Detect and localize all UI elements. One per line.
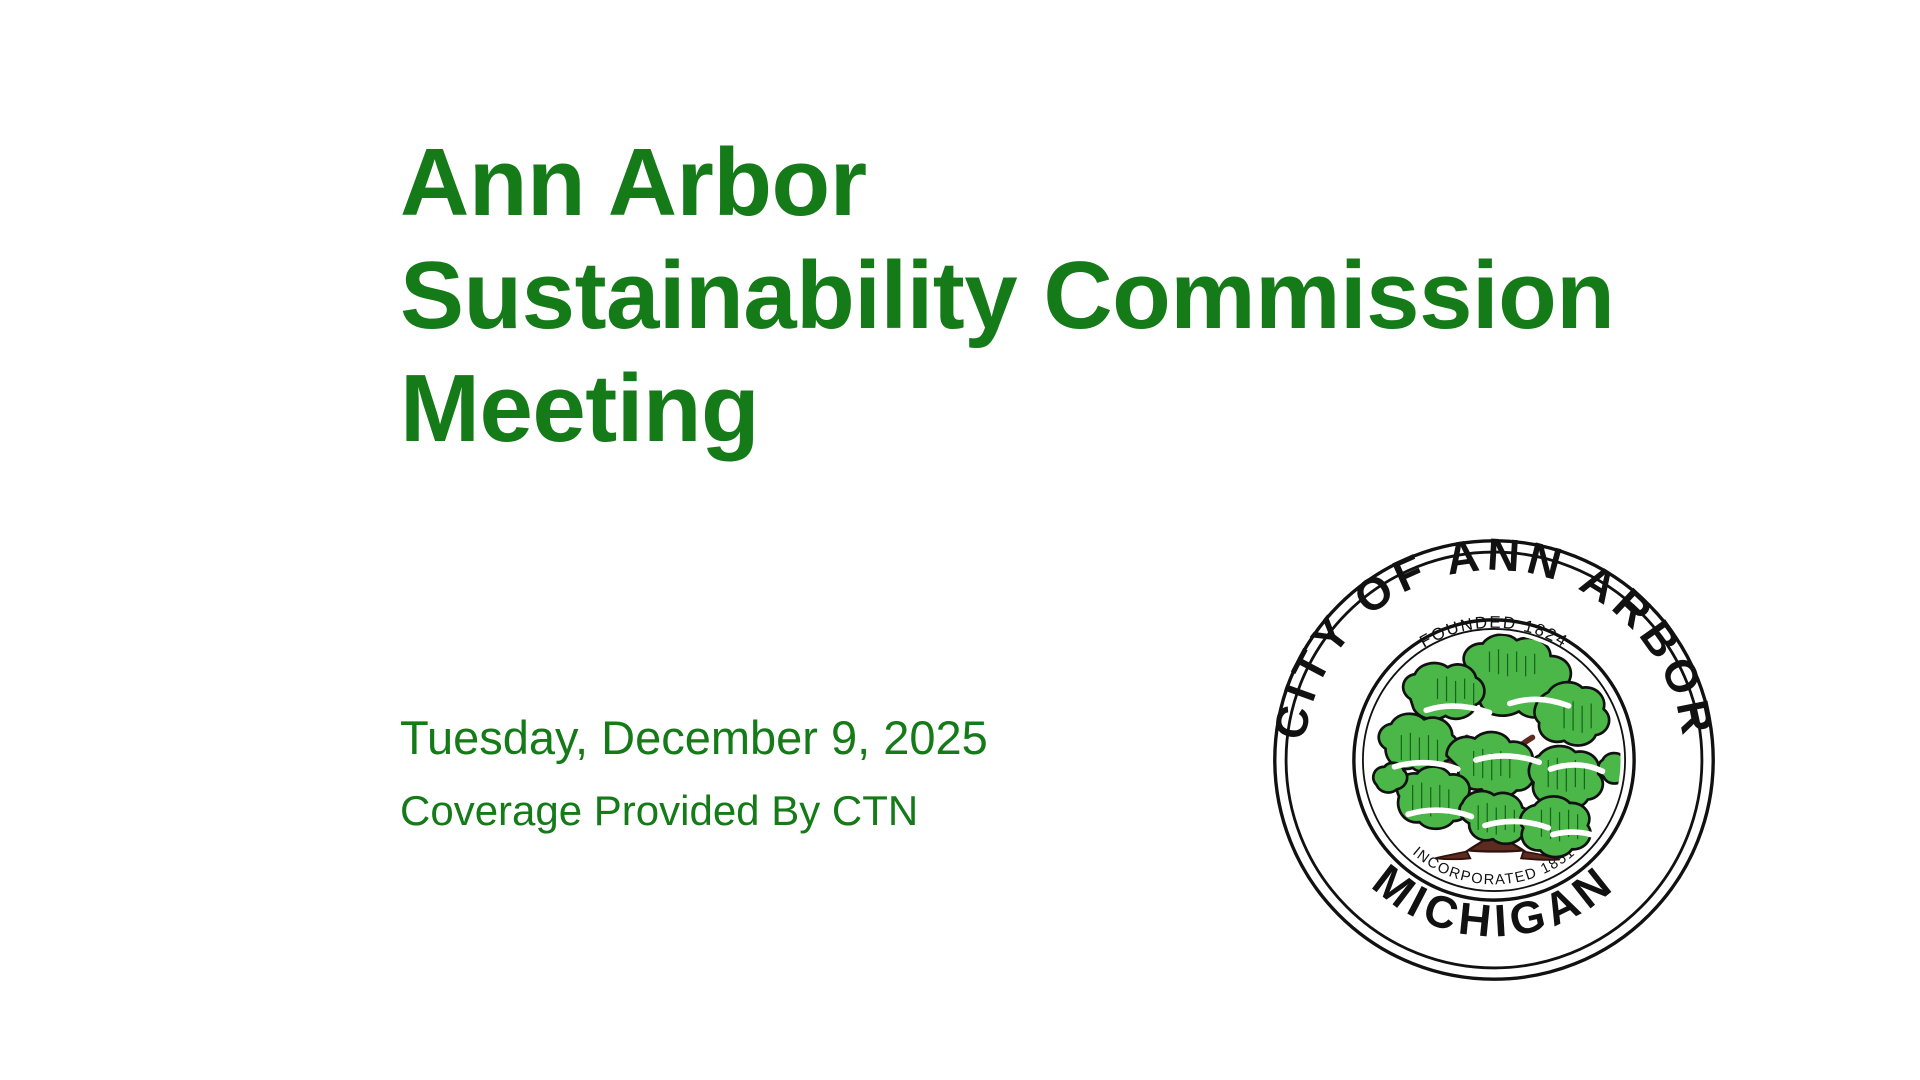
subtitle-block: Tuesday, December 9, 2025 Coverage Provi… (400, 700, 1300, 846)
title-line-2: Sustainability Commission (400, 239, 1820, 352)
meeting-date: Tuesday, December 9, 2025 (400, 700, 1300, 776)
title-line-1: Ann Arbor (400, 126, 1820, 239)
city-seal: CITY OF ANN ARBOR MICHIGAN FOUNDED 1824 … (1268, 534, 1720, 986)
page-title: Ann Arbor Sustainability Commission Meet… (400, 126, 1820, 465)
title-line-3: Meeting (400, 352, 1820, 465)
title-slide: Ann Arbor Sustainability Commission Meet… (0, 0, 1920, 1080)
coverage-credit: Coverage Provided By CTN (400, 776, 1300, 846)
